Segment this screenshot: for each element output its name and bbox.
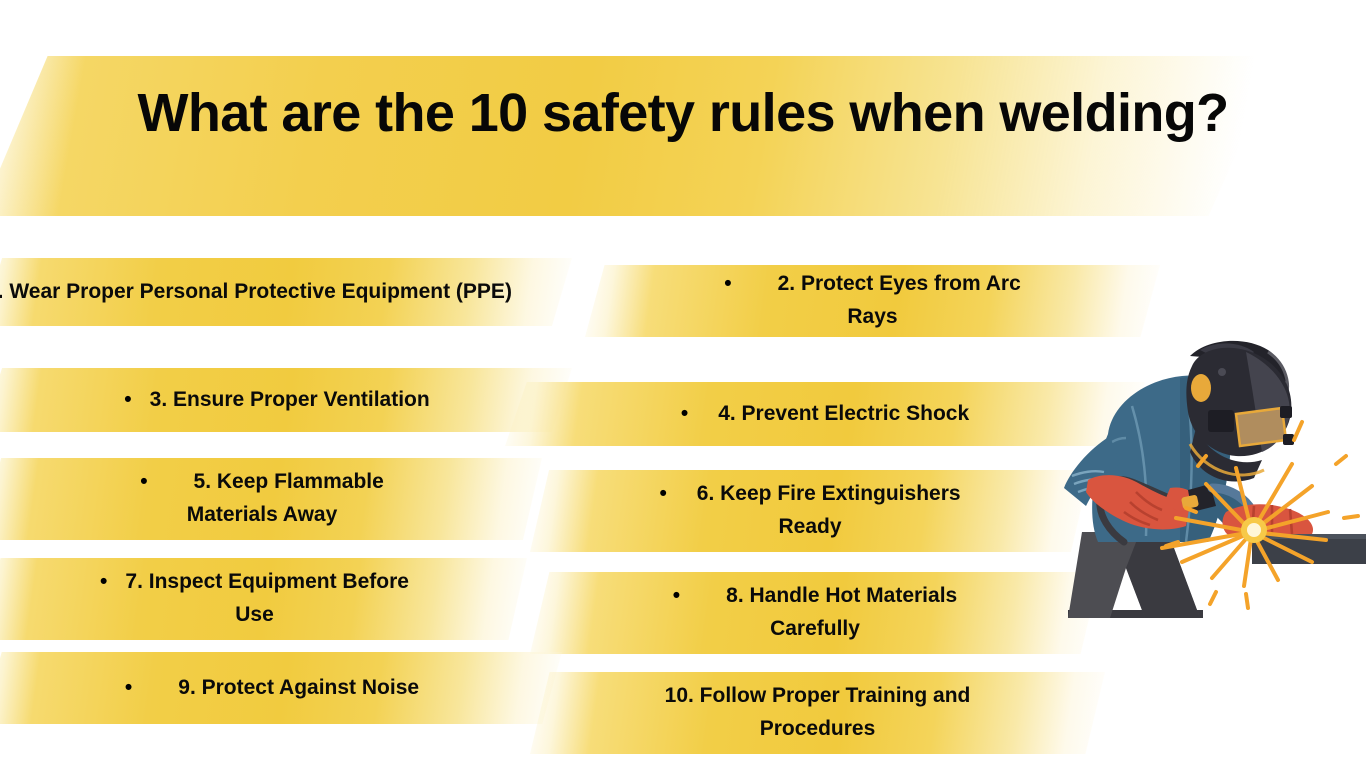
rule-item-9: • 9. Protect Against Noise [0,652,562,724]
rule-line: Use [235,599,274,632]
bullet-icon: • [659,483,666,504]
rule-line: 10. Follow Proper Training and [665,680,971,713]
rule-line: 7. Inspect Equipment Before [125,566,409,599]
rule-item-2: • 2. Protect Eyes from Arc Rays [585,265,1160,337]
rule-item-8: • 8. Handle Hot Materials Carefully [530,572,1100,654]
rule-text-3: • 3. Ensure Proper Ventilation [0,368,572,432]
bullet-icon: • [125,677,132,698]
bullet-icon: • [124,389,131,410]
rule-text-8: • 8. Handle Hot Materials Carefully [530,572,1100,654]
welder-illustration [1040,336,1366,628]
rule-item-7: • 7. Inspect Equipment Before Use [0,558,527,640]
bullet-icon: • [681,403,688,424]
rule-line: Procedures [760,713,876,746]
infographic-canvas: What are the 10 safety rules when weldin… [0,0,1366,768]
rule-text-6: • 6. Keep Fire Extinguishers Ready [530,470,1090,552]
visor-slot [1208,410,1234,432]
bullet-icon: • [140,471,147,492]
rule-text-10: 10. Follow Proper Training and Procedure… [530,672,1105,754]
rule-item-1: 1. Wear Proper Personal Protective Equip… [0,258,572,326]
rule-line: 5. Keep Flammable [194,466,384,499]
rule-line: 6. Keep Fire Extinguishers [697,478,961,511]
rule-text-5: • 5. Keep Flammable Materials Away [0,458,542,540]
welder-illustration-svg [1040,336,1366,628]
rule-item-5: • 5. Keep Flammable Materials Away [0,458,542,540]
rule-item-3: • 3. Ensure Proper Ventilation [0,368,572,432]
spark-core-inner [1247,523,1261,537]
page-title: What are the 10 safety rules when weldin… [0,82,1366,144]
helmet-ear-cup [1191,374,1211,402]
bullet-icon: • [100,571,107,592]
rule-line: Materials Away [187,499,338,532]
rule-line: 2. Protect Eyes from Arc [778,268,1021,301]
rule-line: Rays [847,301,897,334]
helmet-knob [1218,368,1226,376]
rule-line: 4. Prevent Electric Shock [718,398,969,431]
rule-line: 3. Ensure Proper Ventilation [150,384,430,417]
bullet-icon: • [724,273,731,294]
rule-item-6: • 6. Keep Fire Extinguishers Ready [530,470,1090,552]
rule-line: 9. Protect Against Noise [178,672,419,705]
rule-text-9: • 9. Protect Against Noise [0,652,562,724]
visor-clip-top [1280,406,1292,418]
rule-line: Carefully [770,613,860,646]
rule-text-2: • 2. Protect Eyes from Arc Rays [585,265,1160,337]
rule-text-1: 1. Wear Proper Personal Protective Equip… [0,258,572,326]
rule-text-7: • 7. Inspect Equipment Before Use [0,558,527,640]
rule-line: Ready [778,511,841,544]
rule-item-10: 10. Follow Proper Training and Procedure… [530,672,1105,754]
rule-line: 1. Wear Proper Personal Protective Equip… [0,276,512,309]
bullet-icon: • [673,585,680,606]
rule-line: 8. Handle Hot Materials [726,580,957,613]
